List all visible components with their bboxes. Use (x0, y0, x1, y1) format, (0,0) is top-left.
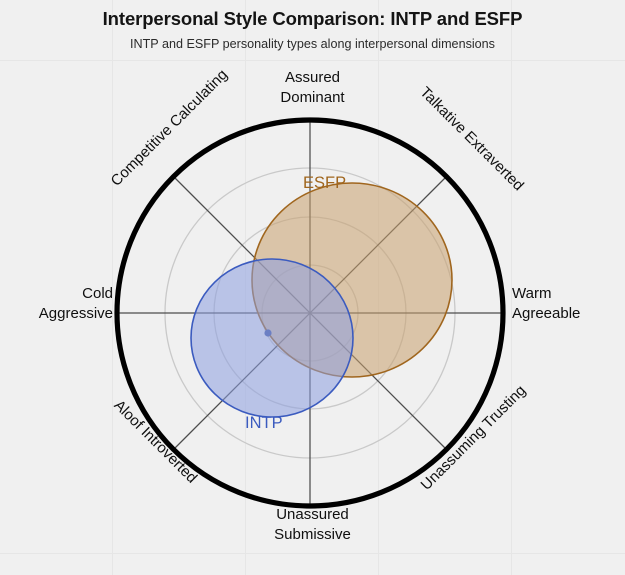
axis-label-agreeable-line2: Agreeable (512, 304, 622, 324)
series-label-esfp: ESFP (303, 174, 346, 193)
axis-label-agreeable: Warm Agreeable (512, 284, 622, 324)
chart-root: Interpersonal Style Comparison: INTP and… (0, 0, 625, 575)
intp-centroid-marker (264, 329, 271, 336)
axis-label-agreeable-line1: Warm (512, 285, 551, 302)
axis-label-dominant-line2: Dominant (0, 88, 625, 108)
axis-label-submissive-line1: Unassured (276, 506, 349, 523)
axis-label-aggressive-line1: Cold (82, 285, 113, 302)
axis-label-aggressive-line2: Aggressive (8, 304, 113, 324)
axis-label-submissive: Unassured Submissive (0, 505, 625, 545)
series-label-intp: INTP (245, 414, 283, 433)
axis-label-dominant: Assured Dominant (0, 68, 625, 108)
axis-label-aggressive: Cold Aggressive (8, 284, 113, 324)
series-ellipse-intp (191, 259, 353, 417)
axis-label-dominant-line1: Assured (285, 69, 340, 86)
axis-label-submissive-line2: Submissive (0, 525, 625, 545)
